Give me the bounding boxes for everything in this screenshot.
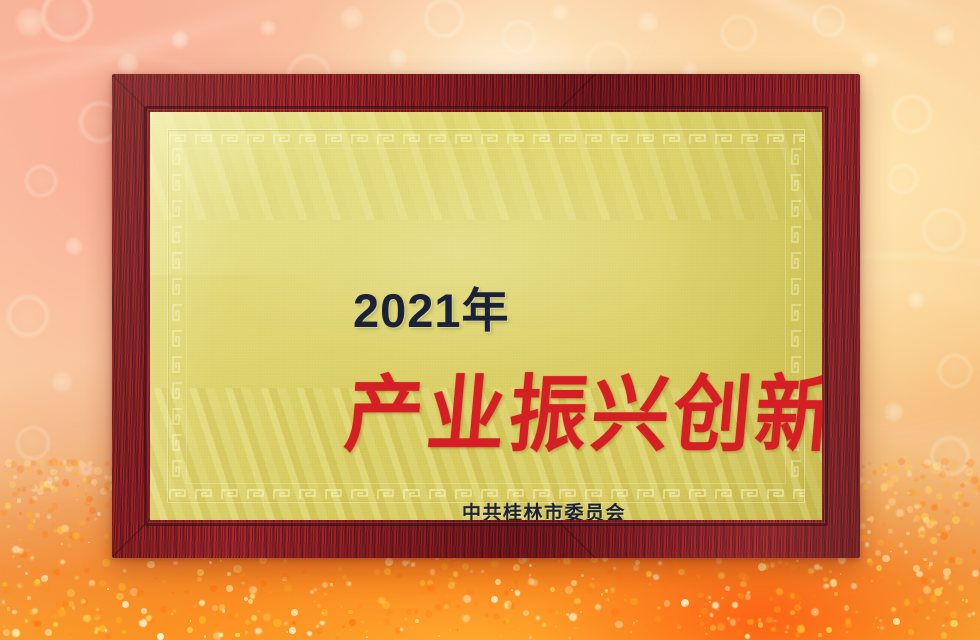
sparkle [348,582,351,585]
sparkle [771,627,776,632]
sparkle [74,470,80,476]
sparkle [7,525,10,528]
sparkle [730,572,734,576]
sparkle [529,564,532,567]
sparkle [365,630,368,633]
sparkle [94,630,99,635]
sparkle [743,578,744,579]
sparkle [84,467,88,471]
sparkle [721,597,723,599]
sparkle [2,582,7,587]
sparkle [58,608,66,616]
sparkle [456,604,460,608]
sparkle [76,578,82,584]
sparkle [219,633,222,636]
sparkle [944,617,949,622]
sparkle [189,604,195,610]
sparkle [84,568,89,573]
sparkle [184,590,189,595]
sparkle [758,622,764,628]
sparkle [930,595,937,602]
sparkle [888,541,892,545]
bokeh-circle [25,165,57,197]
bokeh-circle [340,6,364,30]
sparkle [105,503,110,508]
sparkle [457,629,459,631]
sparkle [716,558,722,564]
sparkle [9,481,17,489]
sparkle [762,584,764,586]
sparkle [885,469,887,471]
sparkle [778,560,782,564]
sparkle [361,621,364,624]
sparkle [218,612,224,618]
bokeh-circle [260,20,276,36]
sparkle [947,468,949,470]
sparkle [24,460,31,467]
sparkle [899,543,902,546]
sparkle [968,614,971,617]
sparkle [960,483,965,488]
sparkle [227,572,231,576]
sparkle [712,602,719,609]
sparkle [27,596,31,600]
sparkle [66,459,74,467]
sparkle [812,595,816,599]
sparkle [896,509,904,517]
sparkle [366,636,368,638]
sparkle [736,631,742,637]
sparkle [921,526,924,529]
sparkle [79,520,85,526]
sparkle [770,562,776,568]
sparkle [173,609,177,613]
sparkle [94,625,96,627]
sparkle [32,608,38,614]
sparkle [849,595,854,600]
sparkle [40,468,43,471]
sparkle [3,629,10,636]
sparkle [785,562,788,565]
sparkle [92,464,94,466]
sparkle [972,549,977,554]
sparkle [242,582,244,584]
sparkle [60,560,64,564]
sparkle [840,573,841,574]
sparkle [341,606,343,608]
sparkle [317,604,321,608]
sparkle [677,626,680,629]
sparkle [508,602,516,610]
sparkle [500,636,502,638]
sparkle [448,563,454,569]
sparkle [269,592,271,594]
sparkle [558,560,560,562]
sparkle [57,551,58,552]
sparkle [116,593,124,601]
sparkle [944,575,949,580]
sparkle [607,568,614,575]
sparkle [963,502,969,508]
sparkle [30,556,33,559]
sparkle [732,602,738,608]
sparkle [529,636,532,639]
sparkle [251,615,257,621]
sparkle [667,617,671,621]
bokeh-circle [637,11,659,33]
sparkle [415,619,419,623]
sparkle [383,618,390,625]
sparkle [65,537,67,539]
sparkle [740,581,747,588]
sparkle [953,570,955,572]
sparkle [17,488,22,493]
issuer-line-1: 中共桂林市委员会 [454,498,626,520]
sparkle [548,607,555,614]
sparkle [926,616,930,620]
sparkle [258,611,260,613]
sparkle [855,611,857,613]
sparkle [924,464,929,469]
sparkle [969,520,976,527]
sparkle [747,619,753,625]
sparkle [320,621,325,626]
sparkle [916,571,923,578]
sparkle [897,581,901,585]
sparkle [523,610,529,616]
sparkle [35,579,40,584]
sparkle [32,481,34,483]
sparkle [972,612,975,615]
sparkle [587,586,594,593]
sparkle [905,464,913,472]
sparkle [589,604,591,606]
sparkle [34,621,41,628]
sparkle [160,607,166,613]
sparkle [834,592,837,595]
sparkle [83,615,90,622]
sparkle [911,489,919,497]
sparkle [653,574,659,580]
sparkle [322,582,328,588]
sparkle [758,618,761,621]
sparkle [907,506,913,512]
sparkle [86,496,93,503]
sparkle [141,608,147,614]
sparkle [23,600,26,603]
sparkle [122,601,129,608]
sparkle [80,538,84,542]
sparkle [96,608,100,612]
award-plaque: 2021年 产业振兴创新企业 中共桂林市委员会 桂林市人民政府 二〇二二年三月 [112,74,860,558]
sparkle [921,577,927,583]
sparkle [25,619,28,622]
sparkle [950,611,957,618]
sparkle [891,607,896,612]
sparkle [965,462,968,465]
sparkle [302,567,306,571]
sparkle [550,587,556,593]
sparkle [886,480,893,487]
sparkle [104,475,109,480]
sparkle [230,603,237,610]
sparkle [663,585,669,591]
sparkle [888,529,893,534]
sparkle [19,512,22,515]
sparkle [919,462,923,466]
sparkle [105,634,110,639]
sparkle [962,599,964,601]
sparkle [65,483,69,487]
sparkle [273,619,281,627]
sparkle [577,627,579,629]
sparkle [235,633,240,638]
sparkle [958,585,964,591]
sparkle [861,489,866,494]
sparkle [868,462,871,465]
sparkle [872,470,877,475]
sparkle [53,622,58,627]
sparkle [204,586,208,590]
sparkle [303,633,308,638]
sparkle [918,598,924,604]
sparkle [708,596,711,599]
sparkle [427,584,435,592]
sparkle [284,622,287,625]
sparkle [288,595,289,596]
sparkle [204,635,207,638]
sparkle [649,583,651,585]
sparkle [447,559,450,562]
sparkle [26,548,31,553]
sparkle [72,606,76,610]
sparkle [7,607,11,611]
sparkle [932,609,935,612]
sparkle [925,486,933,494]
sparkle [165,622,168,625]
sparkle [62,601,68,607]
sparkle [52,523,54,525]
sparkle [54,615,58,619]
sparkle [758,563,766,571]
sparkle [904,599,911,606]
sparkle [50,486,54,490]
sparkle [18,548,24,554]
sparkle [913,607,919,613]
sparkle [227,612,235,620]
sparkle [406,609,411,614]
sparkle [314,601,316,603]
sparkle [245,620,250,625]
sparkle [844,605,850,611]
sparkle [636,620,638,622]
sparkle [88,542,89,543]
sparkle [29,498,35,504]
bokeh-circle [888,164,918,194]
sparkle [574,627,576,629]
sparkle [286,631,288,633]
sparkle [374,569,380,575]
sparkle [653,637,655,639]
sparkle [197,577,202,582]
sparkle [150,618,155,623]
sparkle [210,585,217,592]
sparkle [717,609,719,611]
sparkle [795,616,797,618]
sparkle [39,460,44,465]
sparkle [952,516,959,523]
greek-key-border-icon [167,130,805,147]
sparkle [123,569,126,572]
sparkle [336,637,339,640]
sparkle [481,570,483,572]
sparkle [511,589,513,591]
sparkle [248,599,253,604]
sparkle [861,469,862,470]
sparkle [70,472,74,476]
sparkle [862,577,864,579]
sparkle [10,461,17,468]
bokeh-circle [117,53,139,75]
bokeh-circle [388,48,408,68]
sparkle [515,590,521,596]
sparkle [710,625,716,631]
sparkle [405,618,407,620]
sparkle [877,466,879,468]
sparkle [786,625,790,629]
sparkle [823,577,828,582]
sparkle [939,506,941,508]
award-year: 2021年 [353,272,510,341]
sparkle [831,619,833,621]
sparkle [27,523,34,530]
sparkle [3,625,6,628]
sparkle [430,569,435,574]
sparkle [86,517,90,521]
sparkle [633,622,635,624]
sparkle [76,499,78,501]
sparkle [893,618,899,624]
bokeh-circle [892,94,932,134]
sparkle [763,559,765,561]
sparkle [163,581,165,583]
sparkle [444,604,449,609]
sparkle [226,585,233,592]
sparkle [118,583,126,591]
sparkle [883,473,887,477]
sparkle [411,562,416,567]
sparkle [56,601,61,606]
sparkle [871,580,873,582]
sparkle [592,578,594,580]
sparkle [448,582,455,589]
sparkle [89,580,95,586]
sparkle [563,558,571,566]
sparkle [673,560,676,563]
sparkle [923,558,927,562]
sparkle [794,604,801,611]
gold-plate: 2021年 产业振兴创新企业 中共桂林市委员会 桂林市人民政府 二〇二二年三月 [150,112,822,520]
sparkle [3,590,6,593]
sparkle [48,508,54,514]
sparkle [865,542,870,547]
sparkle [20,539,22,541]
plaque-photo: 2021年 产业振兴创新企业 中共桂林市委员会 桂林市人民政府 二〇二二年三月 [0,0,980,640]
sparkle [35,513,40,518]
sparkle [730,619,737,626]
sparkle [57,526,65,534]
sparkle [12,610,17,615]
sparkle [420,580,426,586]
sparkle [67,589,75,597]
sparkle [824,584,828,588]
sparkle [601,593,604,596]
sparkle [795,594,802,601]
sparkle [245,631,248,634]
bokeh-circle [938,354,972,388]
sparkle [658,561,662,565]
sparkle [536,616,540,620]
sparkle [97,512,101,516]
sparkle [41,575,48,582]
sparkle [906,532,909,535]
sparkle [324,593,326,595]
sparkle [93,612,98,617]
sparkle [737,618,740,621]
bokeh-circle [884,402,904,422]
sparkle [826,627,833,634]
sparkle [25,572,28,575]
sparkle [72,492,77,497]
sparkle [284,560,286,562]
bokeh-circle [16,426,50,460]
sparkle [61,543,63,545]
sparkle [565,586,573,594]
sparkle [705,633,707,635]
sparkle [710,613,714,617]
sparkle [574,598,580,604]
bokeh-circle [907,291,925,309]
sparkle [929,562,933,566]
sparkle [867,559,874,566]
sparkle [529,574,531,576]
sparkle [944,509,949,514]
sparkle [187,627,193,633]
sparkle [799,601,802,604]
sparkle [790,610,795,615]
sparkle [219,604,226,611]
sparkle [867,480,871,484]
sparkle [493,613,500,620]
sparkle [912,532,914,534]
sparkle [215,623,219,627]
bokeh-circle [721,15,757,51]
sparkle [504,590,509,595]
sparkle [933,462,941,470]
bokeh-circle [551,3,569,21]
sparkle [937,506,938,507]
sparkle [900,517,903,520]
sparkle [851,583,857,589]
sparkle [890,463,898,471]
sparkle [898,458,905,465]
sparkle [605,589,609,593]
sparkle [919,504,921,506]
sparkle [949,582,951,584]
sparkle [212,605,218,611]
sparkle [623,594,626,597]
sparkle [514,580,518,584]
